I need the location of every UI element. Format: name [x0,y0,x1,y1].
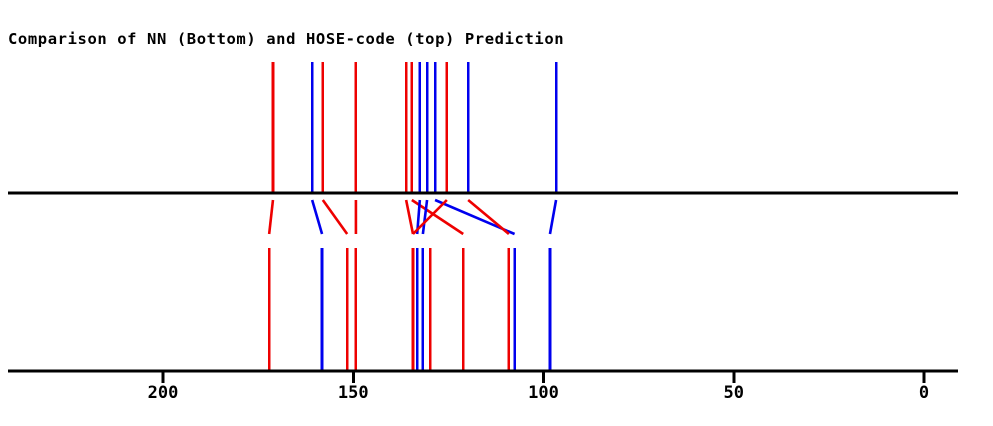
peak-connector [550,200,556,234]
peak-connector [323,200,347,234]
top-spectrum-peaks [273,62,556,193]
x-axis-tick-labels: 200150100500 [148,383,929,403]
x-axis-tick-label: 50 [724,383,744,403]
spectrum-comparison-plot: 200150100500 [0,0,993,426]
peak-connector [269,200,273,234]
bottom-spectrum-peaks [269,248,550,371]
peak-connector [312,200,322,234]
x-axis-tick-label: 0 [919,383,929,403]
peak-connector-lines [269,200,556,234]
chart-canvas: Comparison of NN (Bottom) and HOSE-code … [0,0,993,426]
x-axis-tick-label: 150 [338,383,369,403]
x-axis-ticks [163,371,924,383]
x-axis-tick-label: 200 [148,383,179,403]
peak-connector [406,200,413,234]
peak-connector [423,200,427,234]
x-axis-tick-label: 100 [528,383,559,403]
